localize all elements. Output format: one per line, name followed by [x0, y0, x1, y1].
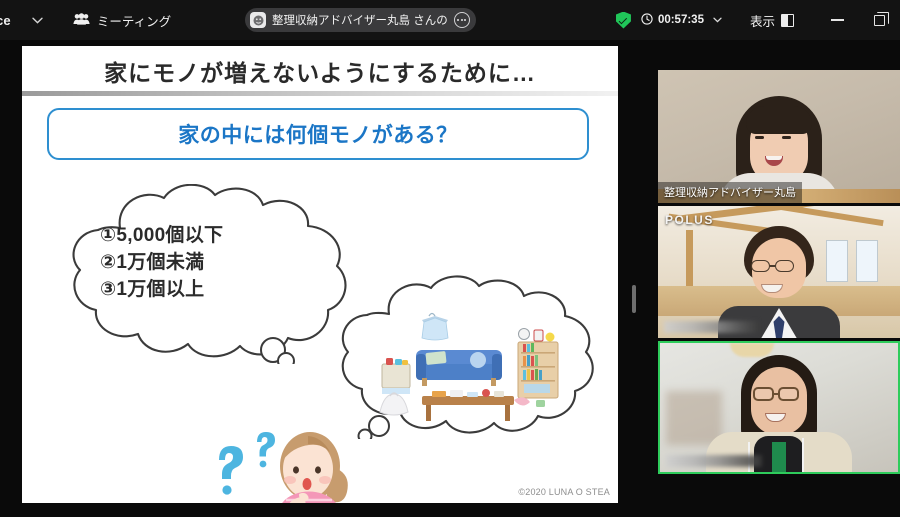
video-tile[interactable]: POLUS [658, 206, 900, 338]
app-name-label: ce [0, 13, 11, 28]
question-box: 家の中には何個モノがある？ [47, 108, 589, 160]
wooden-post [686, 230, 693, 286]
bookshelf-icon [518, 329, 558, 399]
chevron-down-icon[interactable] [713, 14, 722, 26]
participant-name-label [664, 321, 760, 333]
list-item: ③1万個以上 [100, 277, 223, 304]
copyright-text: ©2020 LUNA O STEA [518, 487, 610, 497]
eye-shape [755, 136, 764, 139]
list-item: ①5,000個以下 [100, 223, 223, 250]
question-mark-icon [219, 446, 243, 495]
shield-check-icon[interactable] [616, 12, 631, 29]
sofa-icon [416, 350, 502, 386]
clothes-hanger-icon [422, 314, 448, 341]
background-object [666, 391, 722, 445]
presentation-slide: 家にモノが増えないようにするために… 家の中には何個モノがある？ ①5,000個… [22, 46, 618, 503]
question-box-text: 家の中には何個モノがある？ [178, 119, 458, 149]
view-layout-button[interactable]: 表示 [750, 11, 794, 30]
close-button[interactable] [892, 0, 900, 40]
slide-title: 家にモノが増えないようにするために… [22, 54, 618, 88]
view-label: 表示 [750, 11, 775, 30]
presenter-icon [250, 12, 266, 28]
scarf-shape [772, 442, 786, 474]
window-controls [816, 0, 900, 40]
laundry-bag-icon [380, 393, 408, 415]
meeting-app-window: ce ミーティング [0, 0, 900, 517]
face-shape [751, 367, 807, 435]
video-tile[interactable]: 整理収納アドバイザー丸島 [658, 70, 900, 203]
more-options-icon[interactable] [454, 12, 470, 28]
people-icon [73, 13, 90, 28]
layout-icon [781, 14, 794, 27]
presenter-pill-label: 整理収納アドバイザー丸島 さんの [272, 12, 448, 28]
participant-name-label: 整理収納アドバイザー丸島 [658, 182, 802, 203]
messy-room-illustration [374, 308, 569, 428]
thinking-woman-illustration [207, 414, 357, 503]
glasses-icon [753, 387, 774, 401]
meeting-menu-label: ミーティング [97, 11, 171, 30]
glasses-bridge [770, 265, 775, 267]
slide-title-rule [22, 91, 618, 96]
chevron-down-icon[interactable] [25, 0, 51, 40]
list-item: ②1万個未満 [100, 250, 223, 277]
glasses-bridge [774, 393, 778, 395]
shared-content-stage[interactable]: 家にモノが増えないようにするために… 家の中には何個モノがある？ ①5,000個… [0, 40, 633, 517]
window-shape [826, 240, 848, 282]
clock-icon [641, 13, 653, 28]
title-bar-left: ce ミーティング [0, 0, 171, 40]
presenter-pill[interactable]: 整理収納アドバイザー丸島 さんの [245, 8, 476, 32]
glasses-icon [778, 387, 799, 401]
window-shape [856, 240, 878, 282]
video-rail: 整理収納アドバイザー丸島 POLUS [637, 40, 900, 517]
hair-shape [746, 106, 812, 134]
video-tile-active-speaker[interactable] [658, 341, 900, 474]
meeting-timer[interactable]: 00:57:35 [641, 13, 722, 28]
toy-box-icon [382, 358, 410, 394]
meeting-menu[interactable]: ミーティング [73, 11, 171, 30]
glasses-icon [751, 260, 770, 272]
minimize-button[interactable] [816, 0, 858, 40]
title-bar-right: 00:57:35 表示 [616, 0, 900, 40]
option-list: ①5,000個以下 ②1万個未満 ③1万個以上 [100, 223, 223, 304]
drag-handle-icon[interactable] [632, 285, 636, 313]
earphone-cord [802, 438, 804, 474]
polus-logo: POLUS [665, 213, 714, 227]
meeting-timer-label: 00:57:35 [658, 14, 704, 26]
glasses-icon [775, 260, 794, 272]
eye-shape [782, 136, 791, 139]
question-mark-icon [257, 432, 275, 467]
participant-name-label [666, 455, 762, 467]
title-bar: ce ミーティング [0, 0, 900, 40]
